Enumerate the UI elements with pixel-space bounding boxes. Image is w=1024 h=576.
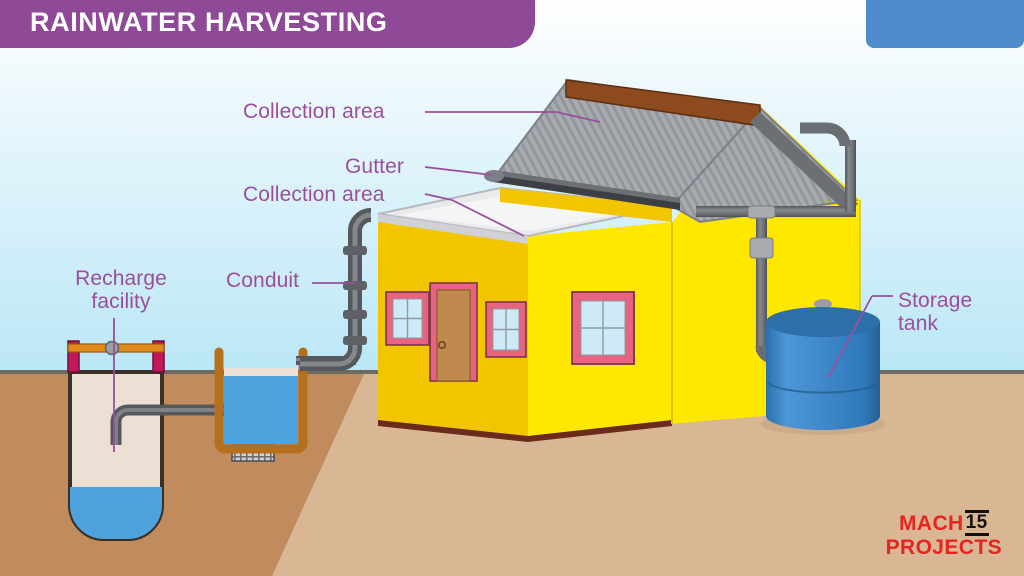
label-recharge-facility: Recharge facility — [62, 268, 180, 313]
blue-tab — [866, 0, 1024, 48]
title-banner: RAINWATER HARVESTING — [0, 0, 535, 48]
storage-tank-body — [766, 322, 880, 430]
pipe-collar-a — [748, 206, 775, 218]
pipe-vertical-right — [845, 140, 856, 212]
page-title: RAINWATER HARVESTING — [30, 7, 388, 38]
pipe-vertical-mid — [756, 212, 767, 352]
label-gutter: Gutter — [345, 156, 404, 179]
front-door — [430, 283, 477, 381]
label-collection-area-terrace: Collection area — [243, 184, 385, 207]
illustration-canvas: RAINWATER HARVESTING Collection area Gut… — [0, 0, 1024, 576]
window-front-left — [386, 292, 429, 345]
filter-tank-water — [224, 376, 298, 444]
recharge-knob — [106, 342, 119, 355]
logo-number-15: 15 — [965, 510, 989, 536]
label-collection-area-roof: Collection area — [243, 101, 385, 124]
label-storage-tank: Storage tank — [898, 290, 972, 335]
pipe-collar-b — [750, 238, 773, 258]
window-front-right — [486, 302, 526, 357]
mach15-projects-logo: MACH15 PROJECTS — [886, 510, 1002, 558]
logo-word-projects: PROJECTS — [886, 537, 1002, 558]
storage-tank-group — [761, 307, 885, 435]
pipe-horizontal-upper — [696, 206, 856, 217]
recharge-well-water — [70, 487, 162, 539]
filter-tank-freeboard — [224, 368, 298, 376]
logo-word-mach: MACH — [899, 513, 964, 534]
window-side — [572, 292, 634, 364]
label-conduit: Conduit — [226, 270, 299, 293]
gutter-end-cap — [484, 170, 504, 182]
